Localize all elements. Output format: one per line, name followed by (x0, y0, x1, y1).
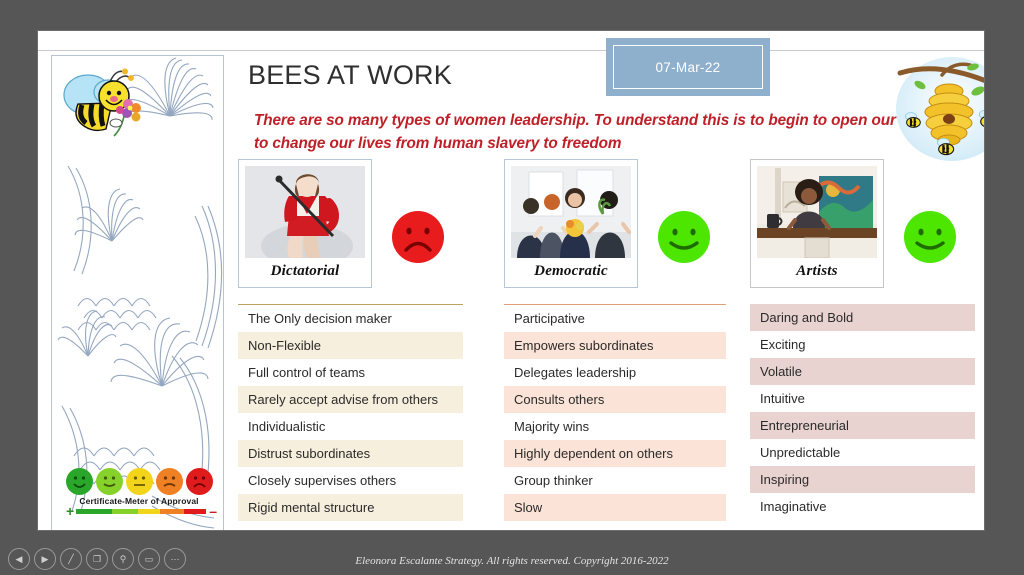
list-item[interactable]: Rarely accept advise from others (238, 386, 463, 413)
list-item[interactable]: Full control of teams (238, 359, 463, 386)
list-item[interactable]: Slow (504, 494, 726, 521)
list-item[interactable]: Participative (504, 305, 726, 332)
meter-plus-sign: + (66, 507, 74, 515)
list-item[interactable]: Unpredictable (750, 439, 975, 466)
date-badge: 07-Mar-22 (606, 38, 770, 96)
copyright-footer: Eleonora Escalante Strategy. All rights … (0, 555, 1024, 567)
subtitle-text: There are so many types of women leaders… (254, 109, 944, 155)
beehive-with-bees-icon (894, 53, 984, 168)
list-item[interactable]: The Only decision maker (238, 305, 463, 332)
decorative-doodle-panel: Certificate-Meter of Approval + – (51, 55, 224, 530)
face-neutral (126, 468, 153, 495)
list-dictatorial: The Only decision makerNon-FlexibleFull … (238, 304, 463, 521)
list-artists: Daring and BoldExcitingVolatileIntuitive… (750, 304, 975, 520)
caption-dictatorial: Dictatorial (245, 258, 365, 285)
card-dictatorial[interactable]: Dictatorial (238, 159, 372, 288)
title-top-rule (38, 50, 984, 51)
list-item[interactable]: Majority wins (504, 413, 726, 440)
column-democratic: Democratic ParticipativeEmpowers subordi… (504, 159, 726, 521)
list-item[interactable]: Highly dependent on others (504, 440, 726, 467)
list-item[interactable]: Group thinker (504, 467, 726, 494)
column-artists: Artists Daring and BoldExcitingVolatileI… (750, 159, 975, 520)
photo-artists (757, 166, 877, 258)
card-democratic[interactable]: Democratic (504, 159, 638, 288)
photo-dictatorial (245, 166, 365, 258)
list-item[interactable]: Non-Flexible (238, 332, 463, 359)
bee-holding-flowers-icon (58, 68, 150, 148)
approval-meter-faces (66, 468, 218, 495)
date-badge-label: 07-Mar-22 (656, 60, 721, 75)
list-item[interactable]: Exciting (750, 331, 975, 358)
approval-meter: Certificate-Meter of Approval + – (66, 468, 218, 530)
list-item[interactable]: Delegates leadership (504, 359, 726, 386)
list-item[interactable]: Distrust subordinates (238, 440, 463, 467)
list-item[interactable]: Imaginative (750, 493, 975, 520)
card-row-dictatorial: Dictatorial (238, 159, 463, 288)
caption-artists: Artists (757, 258, 877, 285)
list-item[interactable]: Entrepreneurial (750, 412, 975, 439)
photo-democratic (511, 166, 631, 258)
mood-icon-dictatorial (390, 209, 446, 270)
slide-canvas: Certificate-Meter of Approval + – BEES A… (38, 31, 984, 530)
card-row-artists: Artists (750, 159, 975, 288)
list-item[interactable]: Empowers subordinates (504, 332, 726, 359)
approval-meter-caption: Certificate-Meter of Approval (66, 496, 212, 506)
caption-democratic: Democratic (511, 258, 631, 285)
card-artists[interactable]: Artists (750, 159, 884, 288)
meter-minus-sign: – (209, 507, 217, 515)
approval-meter-bar: + – (66, 507, 218, 515)
list-item[interactable]: Intuitive (750, 385, 975, 412)
face-slightly-sad (156, 468, 183, 495)
card-row-democratic: Democratic (504, 159, 726, 288)
column-dictatorial: Dictatorial The Only decision makerNon-F… (238, 159, 463, 521)
list-item[interactable]: Closely supervises others (238, 467, 463, 494)
mood-icon-democratic (656, 209, 712, 270)
list-item[interactable]: Volatile (750, 358, 975, 385)
list-item[interactable]: Inspiring (750, 466, 975, 493)
mood-icon-artists (902, 209, 958, 270)
list-item[interactable]: Individualistic (238, 413, 463, 440)
list-item[interactable]: Consults others (504, 386, 726, 413)
face-sad (186, 468, 213, 495)
face-slightly-happy (96, 468, 123, 495)
list-democratic: ParticipativeEmpowers subordinatesDelega… (504, 304, 726, 521)
slide-viewport[interactable]: Certificate-Meter of Approval + – BEES A… (38, 31, 984, 530)
list-item[interactable]: Rigid mental structure (238, 494, 463, 521)
list-item[interactable]: Daring and Bold (750, 304, 975, 331)
page-title: BEES AT WORK (248, 60, 452, 91)
presentation-window: Certificate-Meter of Approval + – BEES A… (0, 0, 1024, 575)
face-happy (66, 468, 93, 495)
